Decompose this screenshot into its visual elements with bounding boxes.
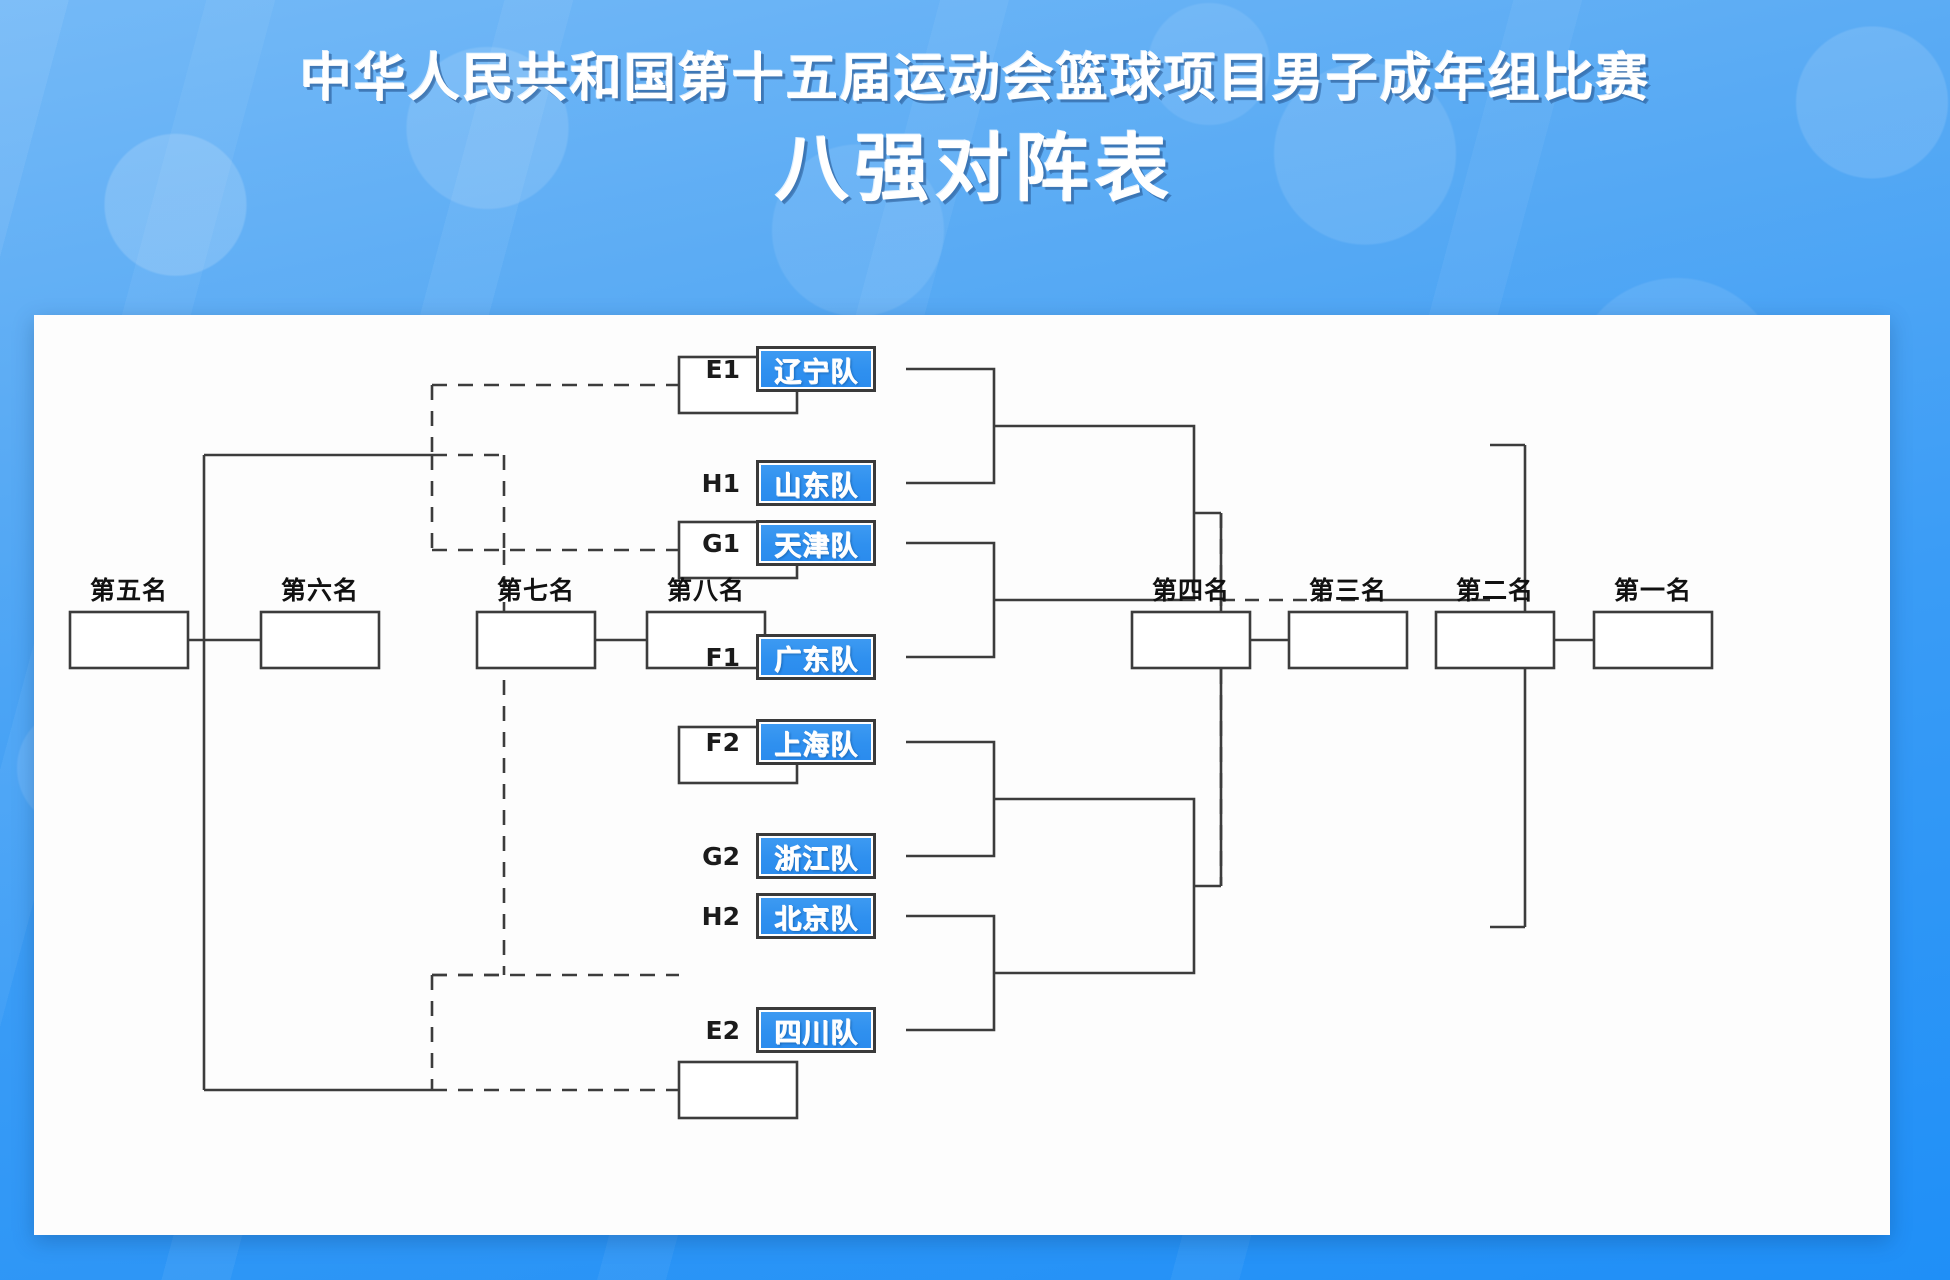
rank-box-second: [1436, 612, 1554, 668]
team-box-beijing[interactable]: 北京队: [756, 893, 876, 939]
sf-bottom-connector: [994, 799, 1194, 973]
bracket-lines: [34, 315, 1890, 1235]
rank-label-first: 第一名: [1578, 571, 1728, 607]
rank-box-seventh: [477, 612, 595, 668]
bracket-card: E1 辽宁队 H1 山东队 G1 天津队 F1 广东队 F2 上海队 G2 浙江…: [34, 315, 1890, 1235]
qf3-connector: [906, 742, 994, 856]
rank-label-second: 第二名: [1420, 571, 1570, 607]
page-title-line2: 八强对阵表: [0, 126, 1950, 212]
rank-box-first: [1594, 612, 1712, 668]
rank-label-sixth: 第六名: [245, 571, 395, 607]
team-box-zhejiang[interactable]: 浙江队: [756, 833, 876, 879]
seed-label-e1: E1: [686, 355, 740, 384]
rank-box-fourth: [1132, 612, 1250, 668]
rank-box-sixth: [261, 612, 379, 668]
page-title-line1: 中华人民共和国第十五届运动会篮球项目男子成年组比赛: [300, 49, 1650, 109]
qf1-connector: [906, 369, 994, 483]
seed-label-f1: F1: [686, 643, 740, 672]
team-box-shandong[interactable]: 山东队: [756, 460, 876, 506]
rank-label-fourth: 第四名: [1116, 571, 1266, 607]
team-box-guangdong[interactable]: 广东队: [756, 634, 876, 680]
poster-title-block: 中华人民共和国第十五届运动会篮球项目男子成年组比赛 八强对阵表: [0, 46, 1950, 212]
seed-label-h2: H2: [686, 902, 740, 931]
seed-label-f2: F2: [686, 728, 740, 757]
rank-box-third: [1289, 612, 1407, 668]
poster-root: 中华人民共和国第十五届运动会篮球项目男子成年组比赛 八强对阵表: [0, 0, 1950, 1280]
rank-label-seventh: 第七名: [461, 571, 611, 607]
rank-label-third: 第三名: [1273, 571, 1423, 607]
qf4-connector: [906, 916, 994, 1030]
consolation-box-4: [679, 1062, 797, 1118]
team-box-liaoning[interactable]: 辽宁队: [756, 346, 876, 392]
seed-label-g1: G1: [686, 529, 740, 558]
seed-label-h1: H1: [686, 469, 740, 498]
team-box-tianjin[interactable]: 天津队: [756, 520, 876, 566]
rank-label-eighth: 第八名: [631, 571, 781, 607]
rank-label-fifth: 第五名: [54, 571, 204, 607]
qf2-connector: [906, 543, 994, 657]
seed-label-g2: G2: [686, 842, 740, 871]
team-box-sichuan[interactable]: 四川队: [756, 1007, 876, 1053]
seed-label-e2: E2: [686, 1016, 740, 1045]
rank-box-fifth: [70, 612, 188, 668]
team-box-shanghai[interactable]: 上海队: [756, 719, 876, 765]
